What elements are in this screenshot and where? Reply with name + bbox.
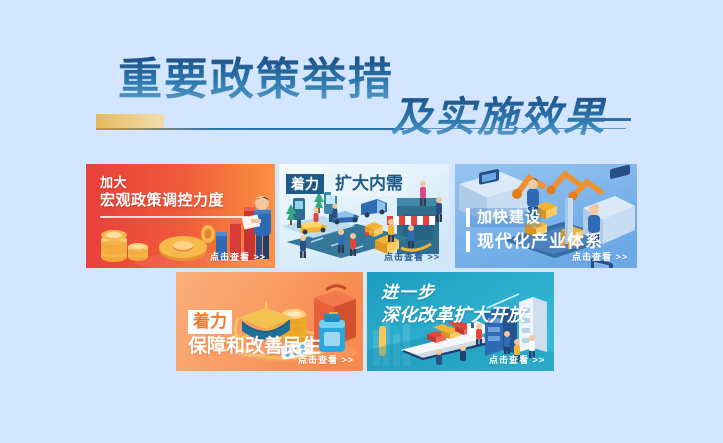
card2-cta[interactable]: 点击查看 >> [384,250,440,263]
card4-cta[interactable]: 点击查看 >> [298,353,354,366]
card3-title-line2: 现代化产业体系 [466,231,603,252]
card4-badge: 着力 [188,310,232,334]
card1-title: 加大 宏观政策调控力度 [100,174,224,210]
title-line-2: 及实施效果 [391,93,606,141]
card5-title-line1: 进一步 [381,282,435,303]
title-line-1: 重要政策举措 [118,55,394,105]
poster-stage: 重要政策举措 及实施效果 [0,0,723,443]
card5-cta[interactable]: 点击查看 >> [489,353,545,366]
card2-title: 扩大内需 [331,172,407,196]
card1-title-line1: 加大 [100,174,224,192]
title-end-dash [593,118,631,121]
card1-title-rule [100,216,248,218]
card-deepen-reform[interactable]: 进一步 深化改革扩大开放 点击查看 >> [367,272,554,371]
card-modern-industrial-system[interactable]: 加快建设 现代化产业体系 点击查看 >> [455,164,637,268]
card-expand-domestic-demand[interactable]: 着力 扩大内需 点击查看 >> [279,164,449,268]
page-title: 重要政策举措 及实施效果 [0,55,723,145]
title-gold-rule [96,128,404,130]
card-improve-livelihood[interactable]: 着力 保障和改善民生 点击查看 >> [176,272,363,371]
card1-cta[interactable]: 点击查看 >> [210,250,266,263]
card3-cta[interactable]: 点击查看 >> [572,250,628,263]
card1-title-line2: 宏观政策调控力度 [100,192,224,210]
card-macro-policy[interactable]: 加大 宏观政策调控力度 点击查看 >> [86,164,275,268]
title-gold-bar [96,114,164,128]
card5-title-line2: 深化改革扩大开放 [381,304,525,327]
card2-badge: 着力 [286,174,324,194]
card3-title-line1: 加快建设 [466,208,541,227]
